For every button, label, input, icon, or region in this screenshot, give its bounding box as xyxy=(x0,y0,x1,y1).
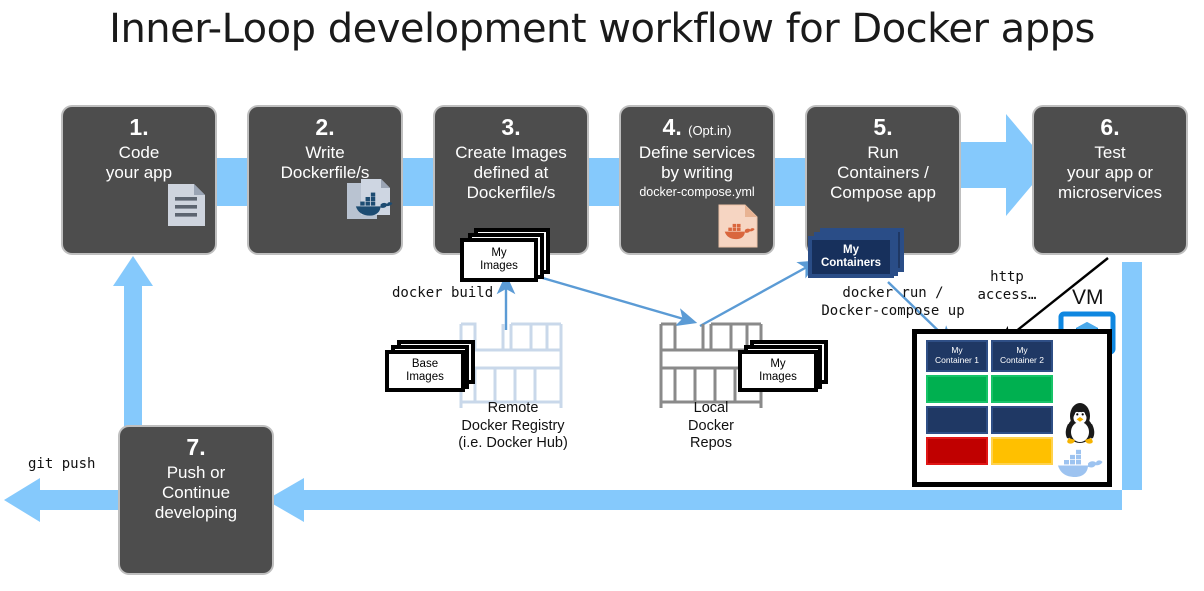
step-text-5: Run Containers / Compose app xyxy=(830,143,936,203)
step-box-7[interactable]: 7. Push or Continue developing xyxy=(120,427,272,573)
step-number-6: 6. xyxy=(1100,115,1119,141)
compose-file-icon xyxy=(717,203,759,249)
git-push-arrow-shaft xyxy=(38,490,128,510)
page-title: Inner-Loop development workflow for Dock… xyxy=(0,6,1204,52)
my-containers-card-step5: My Containers xyxy=(808,228,912,284)
vm-container-1-tile-green xyxy=(926,375,988,403)
http-access-label: http access… xyxy=(962,268,1052,304)
git-push-arrow-head xyxy=(4,478,40,522)
step-number-4-value: 4. xyxy=(663,114,682,140)
document-icon xyxy=(165,182,207,228)
git-push-label: git push xyxy=(28,455,95,473)
vm-container-2-tile-navy xyxy=(991,406,1053,434)
vm-container-2-tile-green xyxy=(991,375,1053,403)
step-text-1: Code your app xyxy=(106,143,172,183)
vm-container-2-header: My Container 2 xyxy=(991,340,1053,372)
remote-registry-label: Remote Docker Registry (i.e. Docker Hub) xyxy=(420,400,606,453)
step-text-4: Define services by writing xyxy=(639,143,755,183)
vm-container-1-tile-navy xyxy=(926,406,988,434)
local-images-front: My Images xyxy=(738,350,818,392)
step-number-4: 4. (Opt.in) xyxy=(663,115,732,141)
step-4-optional-tag: (Opt.in) xyxy=(688,123,731,138)
step-text-6: Test your app or microservices xyxy=(1058,143,1162,203)
docker-run-label: docker run / Docker-compose up xyxy=(798,284,988,320)
my-images-card-step3: My Images xyxy=(460,228,552,286)
containers-front-layer: My Containers xyxy=(808,236,894,278)
local-repos-label: Local Docker Repos xyxy=(655,400,767,453)
step-box-6[interactable]: 6. Test your app or microservices xyxy=(1034,107,1186,253)
step-box-4[interactable]: 4. (Opt.in) Define services by writing d… xyxy=(621,107,773,253)
docker-build-label: docker build xyxy=(392,284,493,302)
return-path-bottom-horizontal xyxy=(300,490,1122,510)
base-images-card: Base Images xyxy=(385,340,481,396)
vm-container-1-tile-red xyxy=(926,437,988,465)
docker-whale-icon xyxy=(1056,447,1108,483)
vm-label: VM xyxy=(1072,286,1104,310)
step-number-1: 1. xyxy=(129,115,148,141)
base-images-front: Base Images xyxy=(385,350,465,392)
step-number-7: 7. xyxy=(186,435,205,461)
step-box-1[interactable]: 1. Code your app xyxy=(63,107,215,253)
step-number-5: 5. xyxy=(873,115,892,141)
dockerfile-icon xyxy=(345,177,397,229)
linux-penguin-icon xyxy=(1060,396,1100,446)
my-images-card-local: My Images xyxy=(738,340,834,396)
compose-file-name: docker-compose.yml xyxy=(639,185,754,200)
diagram-canvas: Inner-Loop development workflow for Dock… xyxy=(0,0,1204,591)
card-front-layer: My Images xyxy=(460,238,538,282)
step-text-7: Push or Continue developing xyxy=(155,463,237,523)
step-number-2: 2. xyxy=(315,115,334,141)
return-path-right-vertical xyxy=(1122,262,1142,490)
vm-container-2-tile-gold xyxy=(991,437,1053,465)
loop-arrow-shaft-up xyxy=(124,282,142,428)
step-text-3: Create Images defined at Dockerfile/s xyxy=(455,143,567,203)
vm-container-1-header: My Container 1 xyxy=(926,340,988,372)
step-box-2[interactable]: 2. Write Dockerfile/s xyxy=(249,107,401,253)
step-number-3: 3. xyxy=(501,115,520,141)
loop-arrow-head-up xyxy=(113,256,153,286)
